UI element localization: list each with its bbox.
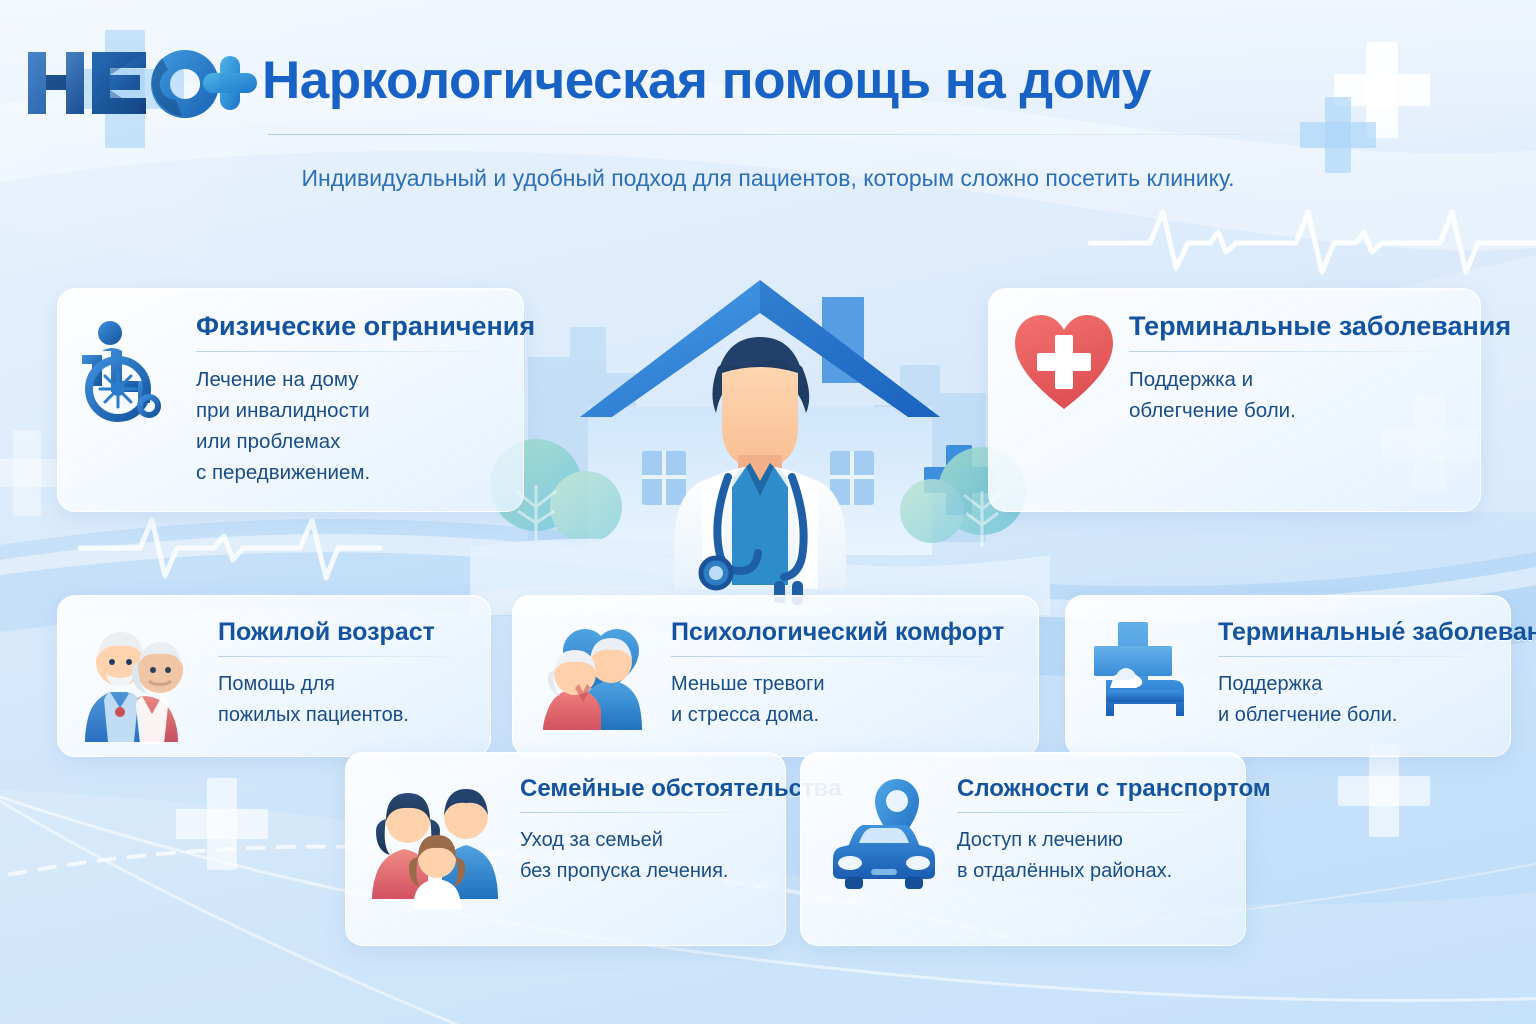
card-divider — [218, 656, 470, 657]
card-body: Пожилой возраст Помощь для пожилых пацие… — [206, 618, 470, 731]
card-terminal-illness-bed[interactable]: Терминальные́ заболевания Поддержка и об… — [1065, 595, 1511, 757]
card-body: Физические ограничения Лечение на дому п… — [184, 311, 503, 488]
page-subtitle: Индивидуальный и удобный подход для паци… — [268, 160, 1268, 196]
cross-watermark-icon — [1338, 745, 1430, 837]
wheelchair-icon — [80, 311, 184, 423]
card-psychological-comfort[interactable]: Психологический комфорт Меньше тревоги и… — [512, 595, 1039, 757]
card-divider — [1218, 656, 1490, 657]
card-body: Психологический комфорт Меньше тревоги и… — [659, 618, 1018, 731]
card-divider — [520, 812, 765, 813]
card-body: Терминальные́ заболевания Поддержка и об… — [1206, 618, 1490, 731]
card-elderly-age[interactable]: Пожилой возраст Помощь для пожилых пацие… — [57, 595, 491, 757]
card-description: Уход за семьей без пропуска лечения. — [520, 825, 765, 887]
card-physical-limitations[interactable]: Физические ограничения Лечение на дому п… — [57, 288, 524, 512]
card-description: Помощь для пожилых пациентов. — [218, 669, 470, 731]
doctor-at-home-illustration — [470, 255, 1050, 615]
card-description: Поддержка и облегчение боли. — [1218, 669, 1490, 731]
family-icon — [368, 775, 508, 911]
card-title: Терминальные заболевания — [1129, 311, 1460, 342]
card-title: Психологический комфорт — [671, 618, 1018, 647]
title-divider — [268, 134, 1446, 135]
card-body: Семейные обстоятельства Уход за семьей б… — [508, 775, 765, 887]
hospital-bed-cross-icon — [1088, 618, 1206, 736]
card-description: Лечение на дому при инвалидности или про… — [196, 364, 503, 488]
card-title: Терминальные́ заболевания — [1218, 618, 1490, 647]
heart-cross-icon — [1011, 311, 1117, 415]
elderly-couple-icon — [80, 618, 206, 744]
card-title: Пожилой возраст — [218, 618, 470, 647]
card-description: Доступ к лечению в отдалённых районах. — [957, 825, 1225, 887]
brand-logo[interactable] — [22, 44, 262, 122]
card-description: Поддержка и облегчение боли. — [1129, 364, 1460, 426]
card-terminal-illness-heart[interactable]: Терминальные заболевания Поддержка и обл… — [988, 288, 1481, 512]
card-body: Терминальные заболевания Поддержка и обл… — [1117, 311, 1460, 426]
infographic-canvas: Наркологическая помощь на дому Индивидуа… — [0, 0, 1536, 1024]
neo-plus-logo-icon — [22, 44, 262, 122]
page-title: Наркологическая помощь на дому — [262, 50, 1151, 111]
card-title: Физические ограничения — [196, 311, 503, 342]
card-title: Семейные обстоятельства — [520, 775, 765, 803]
card-divider — [1129, 351, 1460, 352]
two-people-icon — [535, 618, 659, 742]
card-transport-difficulties[interactable]: Сложности с транспортом Доступ к лечению… — [800, 752, 1246, 946]
card-divider — [671, 656, 1018, 657]
card-family-circumstances[interactable]: Семейные обстоятельства Уход за семьей б… — [345, 752, 786, 946]
cross-watermark-icon — [1334, 42, 1430, 138]
card-description: Меньше тревоги и стресса дома. — [671, 669, 1018, 731]
card-divider — [957, 812, 1225, 813]
card-divider — [196, 351, 503, 352]
cross-watermark-icon — [1300, 97, 1376, 173]
card-title: Сложности с транспортом — [957, 775, 1225, 803]
car-location-pin-icon — [823, 775, 945, 903]
cross-watermark-icon — [176, 778, 268, 870]
card-body: Сложности с транспортом Доступ к лечению… — [945, 775, 1225, 887]
